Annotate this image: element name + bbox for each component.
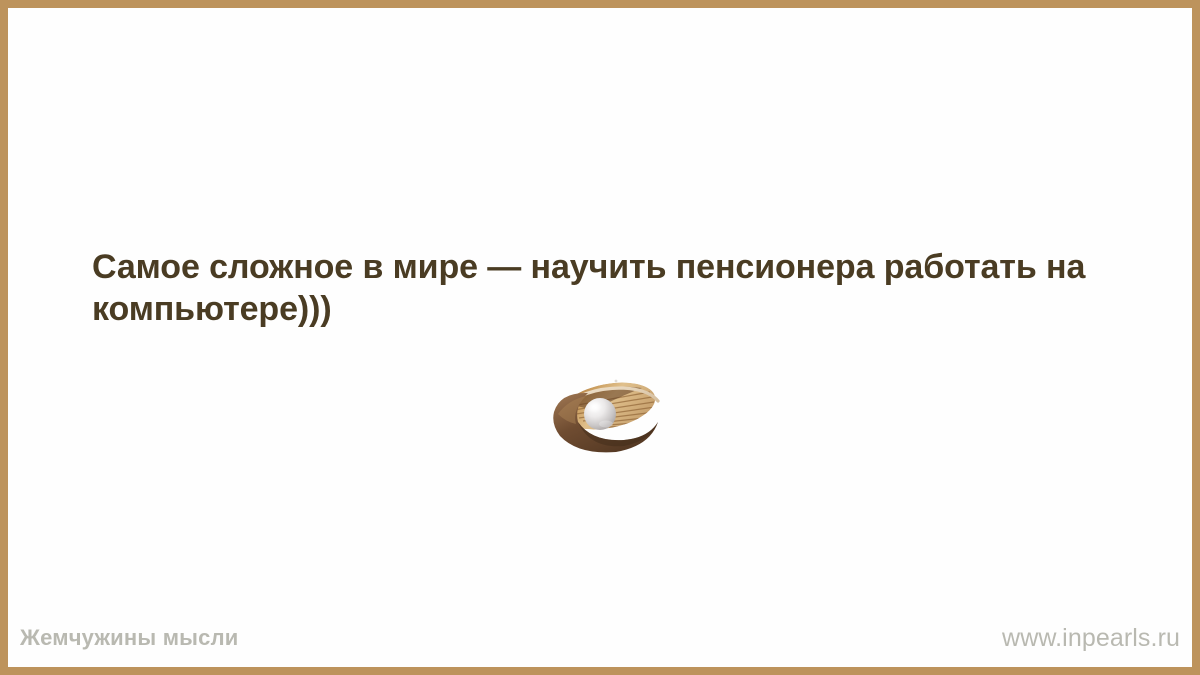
footer: Жемчужины мысли www.inpearls.ru	[8, 601, 1192, 667]
brand-label: Жемчужины мысли	[20, 625, 239, 651]
site-url-link[interactable]: www.inpearls.ru	[1002, 624, 1180, 653]
quote-card: Самое сложное в мире — научить пенсионер…	[0, 0, 1200, 675]
seashell-with-pearl-icon	[538, 376, 668, 456]
quote-text: Самое сложное в мире — научить пенсионер…	[92, 246, 1102, 330]
